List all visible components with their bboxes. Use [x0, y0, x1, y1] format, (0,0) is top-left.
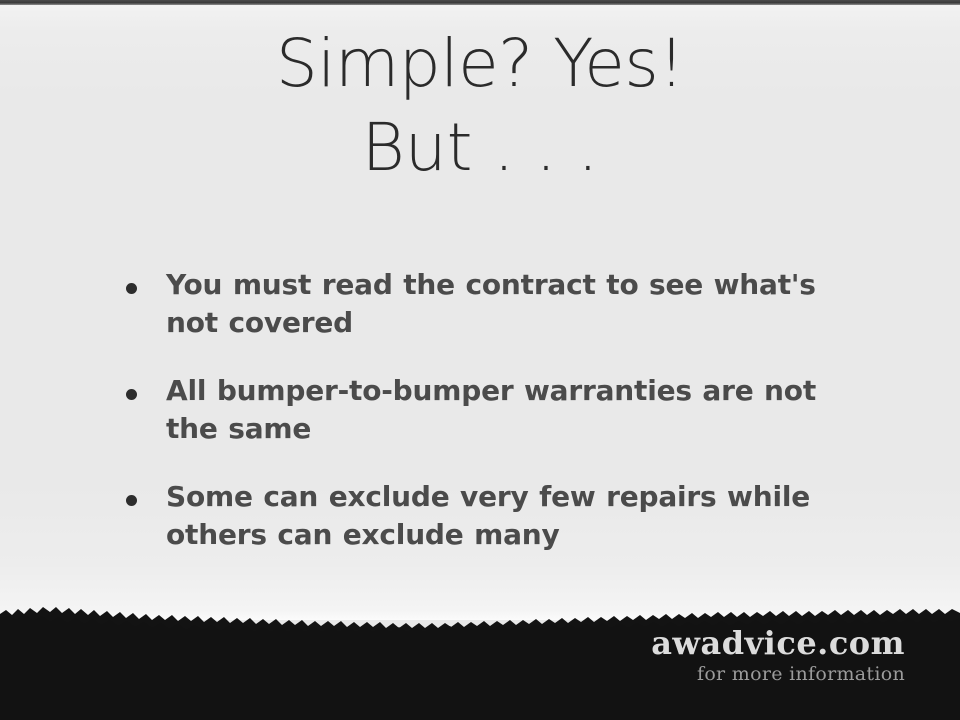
footer-branding: awadvice.com for more information [651, 627, 905, 684]
title-line-2: But . . . [0, 106, 960, 190]
slide-canvas: Simple? Yes! But . . . You must read the… [0, 0, 960, 720]
bullet-dot-icon [126, 495, 137, 506]
bullet-list: You must read the contract to see what's… [120, 266, 860, 554]
list-item: Some can exclude very few repairs while … [120, 478, 860, 554]
bullet-item-text: All bumper-to-bumper warranties are not … [166, 372, 860, 448]
bullet-dot-icon [126, 283, 137, 294]
brand-name: awadvice.com [651, 627, 905, 659]
bullet-dot-icon [126, 389, 137, 400]
list-item: You must read the contract to see what's… [120, 266, 860, 342]
title-line-1: Simple? Yes! [0, 22, 960, 106]
brand-tagline: for more information [651, 665, 905, 684]
list-item: All bumper-to-bumper warranties are not … [120, 372, 860, 448]
bullet-item-text: Some can exclude very few repairs while … [166, 478, 860, 554]
slide-title: Simple? Yes! But . . . [0, 22, 960, 190]
bullet-item-text: You must read the contract to see what's… [166, 266, 860, 342]
